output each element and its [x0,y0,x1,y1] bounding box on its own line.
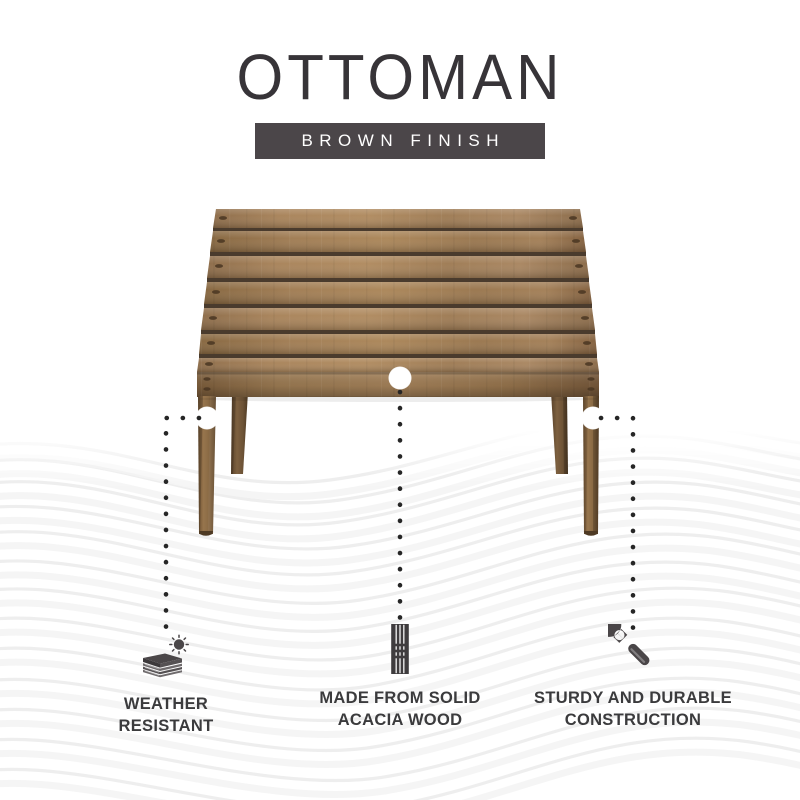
feature-sturdy-construction: STURDY AND DURABLE CONSTRUCTION [518,630,748,731]
leg-back-left [231,392,248,474]
feature-icon-wrap [51,636,281,680]
folded-fabric-icon [143,654,182,678]
slat-3 [207,256,589,282]
feature-label: WEATHER RESISTANT [51,693,281,737]
feature-label-line1: STURDY AND DURABLE [534,689,732,707]
sun-icon [170,635,188,653]
weather-sun-fabric-icon [135,634,197,680]
feature-label-line2: ACACIA WOOD [285,709,515,731]
callout-dot-acacia-wood[interactable] [389,367,411,389]
feature-label-line1: MADE FROM SOLID [319,689,480,707]
slat-4 [204,282,592,308]
wrench-icon [608,624,658,674]
feature-label-line2: RESISTANT [51,715,281,737]
feature-label: STURDY AND DURABLE CONSTRUCTION [518,687,748,731]
callout-dot-weather-resistant[interactable] [196,407,218,429]
slat-6 [199,334,597,358]
feature-label-line1: WEATHER [124,695,208,713]
slat-1 [213,209,583,231]
slat-5 [201,308,595,334]
feature-label-line2: CONSTRUCTION [518,709,748,731]
feature-label: MADE FROM SOLID ACACIA WOOD [285,687,515,731]
wood-plank-icon [387,624,413,674]
feature-acacia-wood: MADE FROM SOLID ACACIA WOOD [285,630,515,731]
feature-icon-wrap [518,630,748,674]
slat-2 [210,231,586,256]
callout-dot-sturdy-construction[interactable] [582,407,604,429]
leg-back-right [551,392,568,474]
feature-icon-wrap [285,630,515,674]
product-infographic: OTTOMAN BROWN FINISH [0,0,800,800]
feature-weather-resistant: WEATHER RESISTANT [51,636,281,737]
